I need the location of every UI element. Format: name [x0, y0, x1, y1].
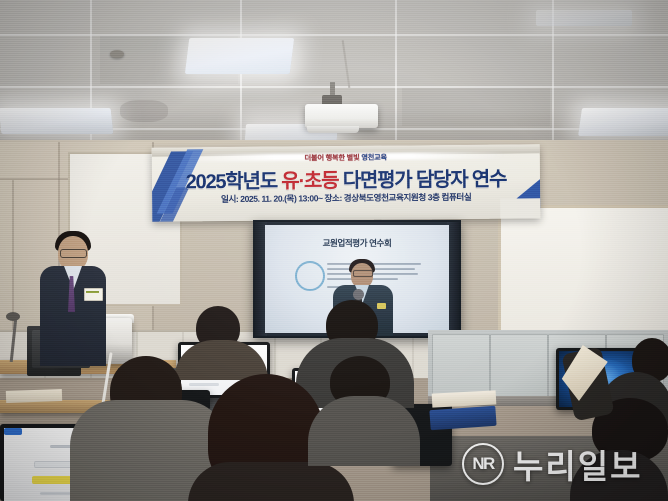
watermark: NR 누리일보 — [462, 440, 642, 488]
name-badge — [84, 288, 103, 301]
banner-subtitle: 일시: 2025. 11. 20.(목) 13:00~ 장소: 경상북도영천교육… — [152, 190, 540, 205]
photograph-root: EPSON 더불어 행복한 별빛 영천교육 2025학년도 유·초등 다면평가 … — [0, 0, 668, 501]
cabinet-door[interactable] — [490, 334, 548, 398]
banner-title-part2: 다면평가 담당자 연수 — [338, 169, 506, 192]
microphone-icon — [6, 312, 20, 321]
microphone-icon — [353, 289, 364, 300]
nr-logo-icon: NR — [462, 443, 504, 485]
speaker-glasses — [353, 270, 373, 277]
banner-title-highlight: 유·초등 — [281, 170, 338, 192]
projector-lens-icon — [307, 126, 359, 133]
name-badge-stripe — [86, 291, 99, 293]
whiteboard-right — [498, 205, 668, 343]
smoke-detector-icon — [110, 50, 124, 58]
slide-title: 교원업적평가 연수회 — [265, 237, 449, 249]
booklet — [429, 406, 496, 431]
ceiling-light — [185, 38, 294, 74]
projector: EPSON — [305, 104, 378, 128]
cabinet-door[interactable] — [432, 334, 490, 398]
watermark-name: 누리일보 — [513, 440, 642, 488]
banner-title-part1: 2025학년도 — [186, 171, 282, 194]
paper-stack — [6, 389, 62, 403]
speaker-badge — [377, 303, 386, 309]
banner-tagline-accent: 영천교육 — [361, 153, 387, 162]
glasses-icon — [60, 249, 87, 258]
event-banner: 더불어 행복한 별빛 영천교육 2025학년도 유·초등 다면평가 담당자 연수… — [152, 144, 541, 221]
banner-tagline-text: 더불어 행복한 별빛 — [305, 153, 362, 162]
slide-logo-icon — [295, 261, 325, 291]
ceiling-light — [536, 10, 632, 26]
